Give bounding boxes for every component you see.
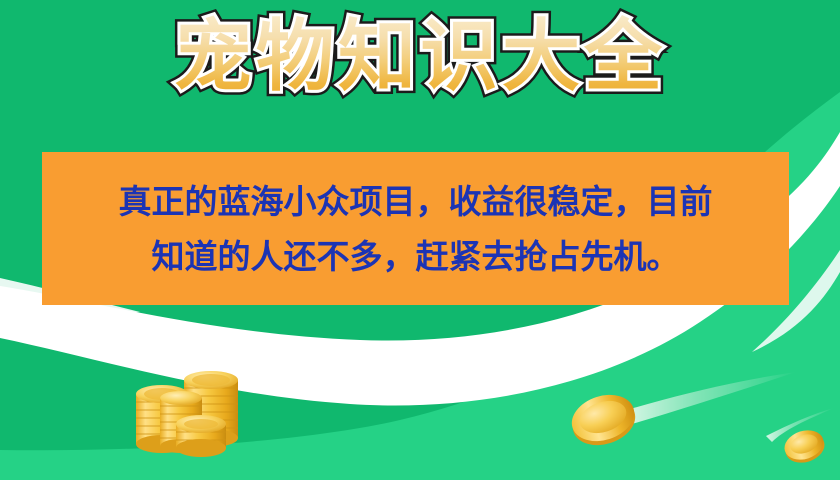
coin-stack-front [176,415,226,457]
title-text-stack: 宠物知识大全 宠物知识大全 宠物知识大全 [174,14,666,101]
coin-trail-large [620,372,796,424]
caption-line-1: 真正的蓝海小众项目，收益很稳定，目前 [119,185,713,218]
caption-line-2: 知道的人还不多，赶紧去抢占先机。 [152,240,680,273]
poster-canvas: 宠物知识大全 宠物知识大全 宠物知识大全 真正的蓝海小众项目，收益很稳定，目前 … [0,0,840,480]
flying-coin-large [566,387,641,453]
flying-coin-small [781,426,829,468]
coin-trail-small [766,408,834,442]
poster-title: 宠物知识大全 宠物知识大全 宠物知识大全 [0,14,840,101]
gold-coin-stacks [128,362,246,462]
title-gradient-fill: 宠物知识大全 [174,12,666,102]
caption-panel: 真正的蓝海小众项目，收益很稳定，目前 知道的人还不多，赶紧去抢占先机。 [42,152,789,305]
